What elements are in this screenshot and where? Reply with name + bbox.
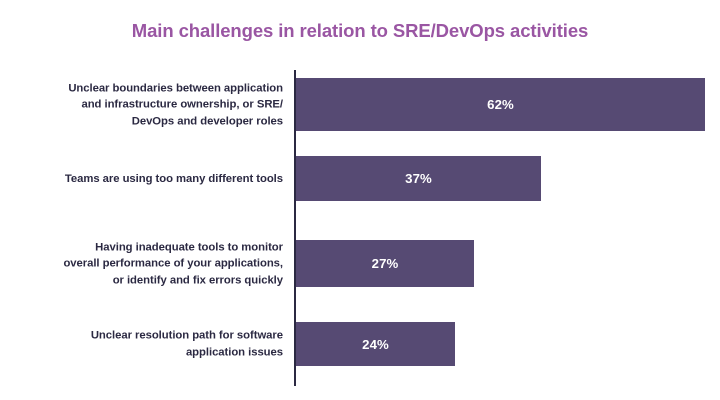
- category-label: Unclear resolution path for software app…: [0, 328, 283, 361]
- bar[interactable]: 62%: [296, 78, 705, 131]
- category-label: Unclear boundaries between application a…: [0, 80, 283, 130]
- bar-value-label: 37%: [296, 156, 541, 201]
- bar[interactable]: 24%: [296, 322, 455, 366]
- category-label: Having inadequate tools to monitor overa…: [0, 239, 283, 289]
- plot-area: Unclear boundaries between application a…: [0, 0, 720, 400]
- bar-value-label: 27%: [296, 240, 474, 287]
- bar-value-label: 62%: [296, 78, 705, 131]
- bar[interactable]: 27%: [296, 240, 474, 287]
- category-label: Teams are using too many different tools: [0, 170, 283, 187]
- bar-value-label: 24%: [296, 322, 455, 366]
- bar-chart: Main challenges in relation to SRE/DevOp…: [0, 0, 720, 400]
- bar[interactable]: 37%: [296, 156, 541, 201]
